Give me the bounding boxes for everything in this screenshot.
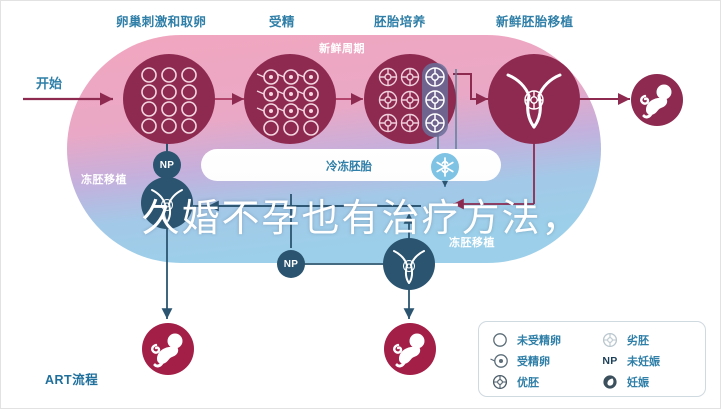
baby-icon-fresh-outcome xyxy=(631,74,683,126)
legend-item-good-embryo: 优胚 xyxy=(489,372,561,392)
np-node-thaw: NP xyxy=(277,250,305,278)
infographic-canvas: NP NP xyxy=(0,0,721,409)
cycle-label-fresh: 新鲜周期 xyxy=(319,40,365,56)
baby-icon-frozen-outcome-left xyxy=(142,323,194,375)
stage-oval-fresh-transfer xyxy=(488,53,580,145)
baby-icon-frozen-outcome-right xyxy=(384,323,436,375)
cycle-label-thaw: 冻融周期 xyxy=(332,284,378,300)
pregnancy-icon xyxy=(599,373,621,391)
legend-item-pregnancy: 妊娠 xyxy=(599,372,660,392)
stage-label-embryo-culture: 胚胎培养 xyxy=(374,11,426,30)
legend-label-no-pregnancy: 未妊娠 xyxy=(627,353,660,369)
legend-item-fertilized-egg: 受精卵 xyxy=(489,351,561,371)
stage-label-fertilization: 受精 xyxy=(269,11,295,30)
blue-uterus-thaw xyxy=(383,238,435,290)
frozen-transfer-label-left: 冻胚移植 xyxy=(81,171,127,187)
frozen-transfer-label-right: 冻胚移植 xyxy=(449,234,495,250)
legend-column-right: 劣胚 NP 未妊娠 妊娠 xyxy=(599,330,660,393)
legend-item-no-pregnancy: NP 未妊娠 xyxy=(599,351,660,371)
legend-label-unfertilized-egg: 未受精卵 xyxy=(517,332,561,348)
legend-label-pregnancy: 妊娠 xyxy=(627,374,649,390)
frozen-embryo-bar-label: 冷冻胚胎 xyxy=(326,158,372,174)
stage-label-oocyte-retrieval: 卵巢刺激和取卵 xyxy=(116,11,206,30)
good-embryo-icon xyxy=(489,373,511,391)
fertilized-egg-icon xyxy=(489,352,511,370)
no-pregnancy-icon: NP xyxy=(599,352,621,370)
legend-label-poor-embryo: 劣胚 xyxy=(627,332,649,348)
poor-embryo-icon xyxy=(599,331,621,349)
stage-oval-embryo-culture xyxy=(364,53,456,145)
stage-oval-fertilization xyxy=(244,53,336,145)
np-node-thaw-label: NP xyxy=(277,250,305,278)
legend-item-poor-embryo: 劣胚 xyxy=(599,330,660,350)
start-label: 开始 xyxy=(36,73,62,92)
blue-uterus-left xyxy=(141,177,193,229)
np-node-left-label: NP xyxy=(153,151,181,179)
art-flow-title: ART流程 xyxy=(45,369,98,388)
legend-box: 未受精卵 受精卵 xyxy=(478,321,706,397)
legend-label-good-embryo: 优胚 xyxy=(517,374,539,390)
stage-label-fresh-transfer: 新鲜胚胎移植 xyxy=(496,11,573,30)
np-node-left: NP xyxy=(153,151,181,179)
no-pregnancy-np-text: NP xyxy=(602,355,617,367)
unfertilized-egg-icon xyxy=(489,331,511,349)
legend-label-fertilized-egg: 受精卵 xyxy=(517,353,550,369)
snowflake-icon xyxy=(431,153,459,181)
legend-item-unfertilized-egg: 未受精卵 xyxy=(489,330,561,350)
stage-oval-oocyte-retrieval xyxy=(123,53,215,145)
legend-column-left: 未受精卵 受精卵 xyxy=(489,330,561,393)
